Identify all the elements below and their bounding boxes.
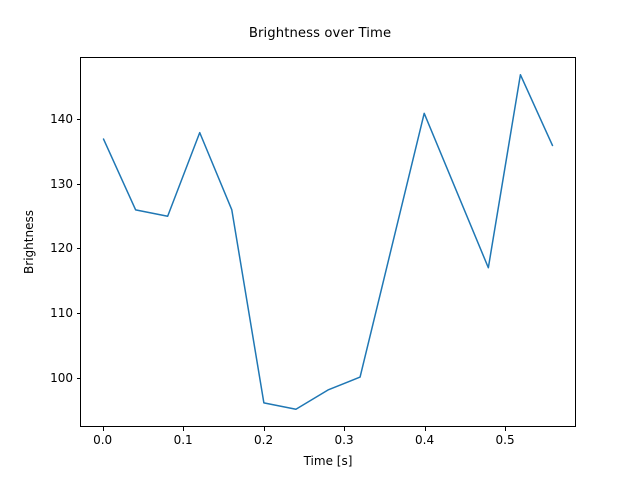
data-series-line: [104, 75, 553, 410]
chart-title: Brightness over Time: [0, 26, 640, 41]
y-tick-label: 110: [50, 306, 73, 320]
y-axis-tick-labels: 100110120130140: [0, 0, 73, 480]
plot-svg: [81, 58, 575, 426]
y-tick-label: 100: [50, 371, 73, 385]
y-tick-label: 120: [50, 241, 73, 255]
x-tick-mark: [425, 427, 426, 431]
x-tick-label: 0.1: [174, 433, 193, 447]
x-tick-mark: [183, 427, 184, 431]
x-tick-label: 0.2: [254, 433, 273, 447]
y-tick-label: 130: [50, 177, 73, 191]
x-tick-mark: [344, 427, 345, 431]
x-tick-label: 0.5: [496, 433, 515, 447]
x-tick-label: 0.4: [415, 433, 434, 447]
x-tick-label: 0.3: [335, 433, 354, 447]
x-tick-mark: [505, 427, 506, 431]
x-tick-mark: [103, 427, 104, 431]
x-axis-tick-labels: 0.00.10.20.30.40.5: [0, 433, 640, 453]
y-tick-label: 140: [50, 112, 73, 126]
figure-canvas: Brightness over Time Brightness 10011012…: [0, 0, 640, 480]
x-tick-mark: [264, 427, 265, 431]
plot-area: [80, 57, 576, 427]
x-tick-label: 0.0: [93, 433, 112, 447]
x-axis-label: Time [s]: [80, 454, 576, 468]
